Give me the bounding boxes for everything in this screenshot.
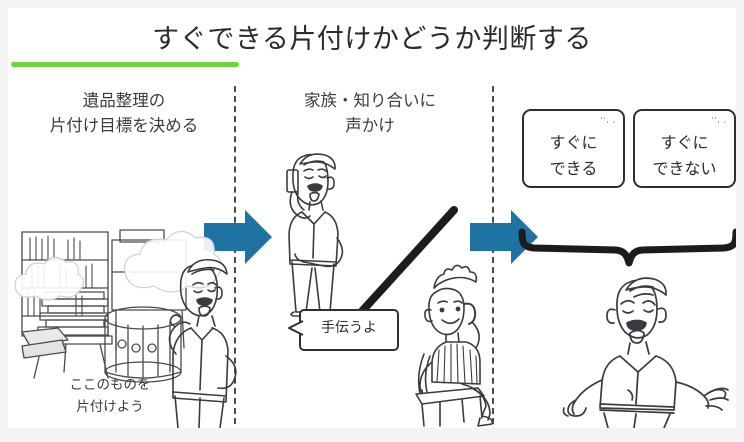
result-card-cannot-do[interactable]: ''‚ , すぐに できない (633, 109, 736, 188)
column-2-heading-line-1: 家族・知り合いに (256, 88, 484, 113)
result-card-can-do-line-2: できる (524, 156, 623, 182)
result-card-can-do-line-1: すぐに (524, 130, 623, 156)
card-corner-mark-icon: ''‚ , (711, 116, 727, 124)
title-highlight-underline (11, 62, 239, 67)
slide-canvas: すぐできる片付けかどうか判断する 遺品整理の 片付け目標を決める 家族・知り合い… (8, 8, 736, 428)
column-2-heading-line-2: 声かけ (256, 113, 484, 138)
column-1-heading-line-2: 片付け目標を決める (26, 113, 222, 138)
column-1-caption-line-1: ここのものを (30, 374, 190, 396)
speech-bubble-help: 手伝うよ (299, 309, 399, 351)
column-2-heading: 家族・知り合いに 声かけ (256, 88, 484, 138)
result-card-cannot-do-line-2: できない (635, 156, 734, 182)
column-1-heading: 遺品整理の 片付け目標を決める (26, 88, 222, 138)
speech-bubble-text: 手伝うよ (321, 320, 377, 336)
grouping-brace-icon (518, 230, 736, 274)
result-card-can-do[interactable]: ''‚ , すぐに できる (522, 109, 625, 188)
column-1-caption-line-2: 片付けよう (30, 396, 190, 418)
page-title-text: すぐできる片付けかどうか判断する (152, 22, 592, 58)
page-title: すぐできる片付けかどうか判断する (8, 22, 736, 58)
illustration-seated-person-on-phone (406, 270, 508, 426)
column-1-heading-line-1: 遺品整理の (26, 88, 222, 113)
speech-bubble-tail-icon (289, 321, 303, 335)
column-1-caption: ここのものを 片付けよう (30, 374, 190, 418)
result-card-cannot-do-line-1: すぐに (635, 130, 734, 156)
card-corner-mark-icon: ''‚ , (600, 116, 616, 124)
illustration-shrugging-man (564, 270, 736, 428)
